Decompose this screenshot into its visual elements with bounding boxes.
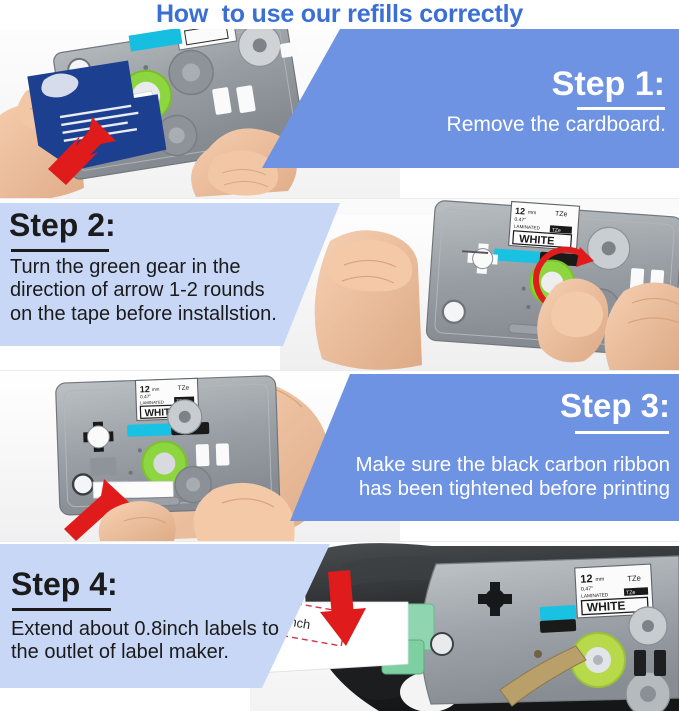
infographic-page: How to use our refills correctly (0, 0, 679, 711)
svg-text:TZe: TZe (626, 590, 636, 596)
step-2-photo: 12 mm 0.47" LAMINATED TZe TZe WHITE (280, 199, 679, 370)
step-row-1: Step 1: Remove the cardboard. (0, 29, 679, 198)
step-3-body: Make sure the black carbon ribbon has be… (355, 453, 670, 501)
step-3-label: Step 3: (560, 387, 670, 425)
step-2-illustration: 12 mm 0.47" LAMINATED TZe TZe WHITE (280, 199, 679, 370)
svg-text:0.47": 0.47" (581, 586, 594, 593)
svg-text:TZe: TZe (178, 385, 190, 392)
step-row-2: 12 mm 0.47" LAMINATED TZe TZe WHITE (0, 199, 679, 370)
svg-text:WHITE: WHITE (519, 233, 555, 247)
svg-text:mm: mm (595, 576, 605, 582)
svg-text:WHITE: WHITE (586, 598, 625, 614)
step-2-body: Turn the green gear in the direction of … (10, 256, 277, 326)
svg-text:mm: mm (528, 210, 537, 217)
svg-text:0.47": 0.47" (514, 217, 526, 224)
svg-text:12: 12 (580, 573, 593, 586)
svg-text:12: 12 (140, 384, 150, 394)
step-row-3: 12 mm 0.47" LAMINATED TZe TZe WHITE (0, 371, 679, 541)
page-title: How to use our refills correctly (0, 0, 679, 29)
step-3-underline (575, 431, 669, 434)
step-3-text-panel: Step 3: Make sure the black carbon ribbo… (290, 371, 679, 541)
svg-text:12: 12 (515, 206, 526, 217)
step-1-underline (577, 107, 665, 110)
step-4-label: Step 4: (11, 566, 118, 603)
step-2-underline (11, 249, 109, 252)
svg-text:TZe: TZe (627, 574, 641, 584)
step-2-label: Step 2: (9, 207, 116, 244)
svg-text:LAMINATED: LAMINATED (140, 400, 164, 406)
step-1-label: Step 1: (552, 65, 665, 104)
svg-text:TZe: TZe (555, 211, 568, 219)
step-row-4: 12 mm 0.47" LAMINATED TZe TZe WHITE (0, 542, 679, 711)
step-4-body: Extend about 0.8inch labels to the outle… (11, 618, 279, 665)
step-4-underline (12, 608, 111, 611)
svg-text:mm: mm (152, 387, 160, 392)
step-1-body: Remove the cardboard. (447, 113, 666, 138)
